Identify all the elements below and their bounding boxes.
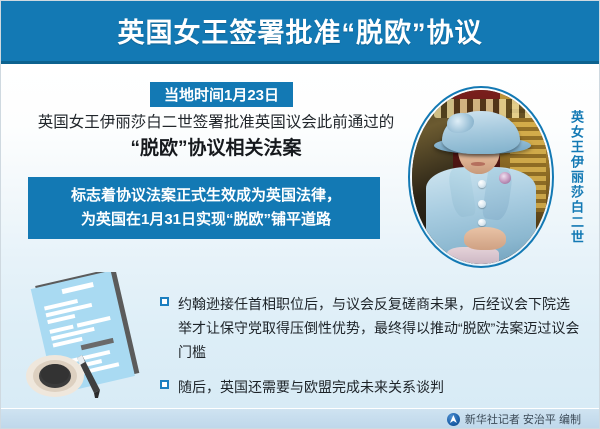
bullet-text-2: 随后，英国还需要与欧盟完成未来关系谈判 [178, 375, 444, 399]
bullet-text-1: 约翰逊接任首相职位后，与议会反复磋商未果，后经议会下院选举才让保守党取得压倒性优… [178, 292, 580, 364]
header-bar: 英国女王签署批准“脱欧”协议 [0, 0, 600, 64]
document-pen-coffee-icon [14, 272, 174, 400]
lead-line-2: “脱欧”协议相关法案 [24, 135, 408, 163]
portrait-button-2 [478, 200, 485, 207]
footer-credit: 新华社记者 安治平 编制 [447, 411, 581, 427]
date-badge: 当地时间1月23日 [150, 82, 293, 107]
bullet-list: 约翰逊接任首相职位后，与议会反复磋商未果，后经议会下院选举才让保守党取得压倒性优… [160, 292, 580, 410]
portrait-photo [412, 90, 550, 264]
lead-line-1: 英国女王伊丽莎白二世签署批准英国议会此前通过的 [24, 112, 408, 134]
square-bullet-icon [160, 380, 169, 389]
list-item: 约翰逊接任首相职位后，与议会反复磋商未果，后经议会下院选举才让保守党取得压倒性优… [160, 292, 580, 364]
document-illustration [14, 272, 174, 400]
square-bullet-icon [160, 297, 169, 306]
lead-paragraph: 英国女王伊丽莎白二世签署批准英国议会此前通过的 “脱欧”协议相关法案 [24, 112, 408, 163]
emphasis-line-2: 为英国在1月31日实现“脱欧”铺平道路 [42, 208, 370, 232]
queen-portrait [408, 86, 554, 268]
footer-bar: 新华社记者 安治平 编制 [0, 408, 600, 429]
portrait-button-1 [478, 180, 485, 187]
portrait-mouth [471, 162, 485, 165]
emphasis-line-1: 标志着协议法案正式生效成为英国法律， [42, 184, 370, 208]
portrait-hands [464, 227, 505, 250]
footer-credit-text: 新华社记者 安治平 编制 [465, 411, 581, 427]
portrait-caption: 英女王伊丽莎白二世 [565, 110, 585, 245]
infographic-root: 英国女王签署批准“脱欧”协议 当地时间1月23日 英国女王伊丽莎白二世签署批准英… [0, 0, 600, 429]
portrait-button-3 [478, 219, 485, 226]
xinhua-logo-icon [447, 413, 460, 426]
emphasis-callout-box: 标志着协议法案正式生效成为英国法律， 为英国在1月31日实现“脱欧”铺平道路 [28, 177, 380, 239]
list-item: 随后，英国还需要与欧盟完成未来关系谈判 [160, 375, 580, 399]
page-title: 英国女王签署批准“脱欧”协议 [118, 11, 483, 50]
